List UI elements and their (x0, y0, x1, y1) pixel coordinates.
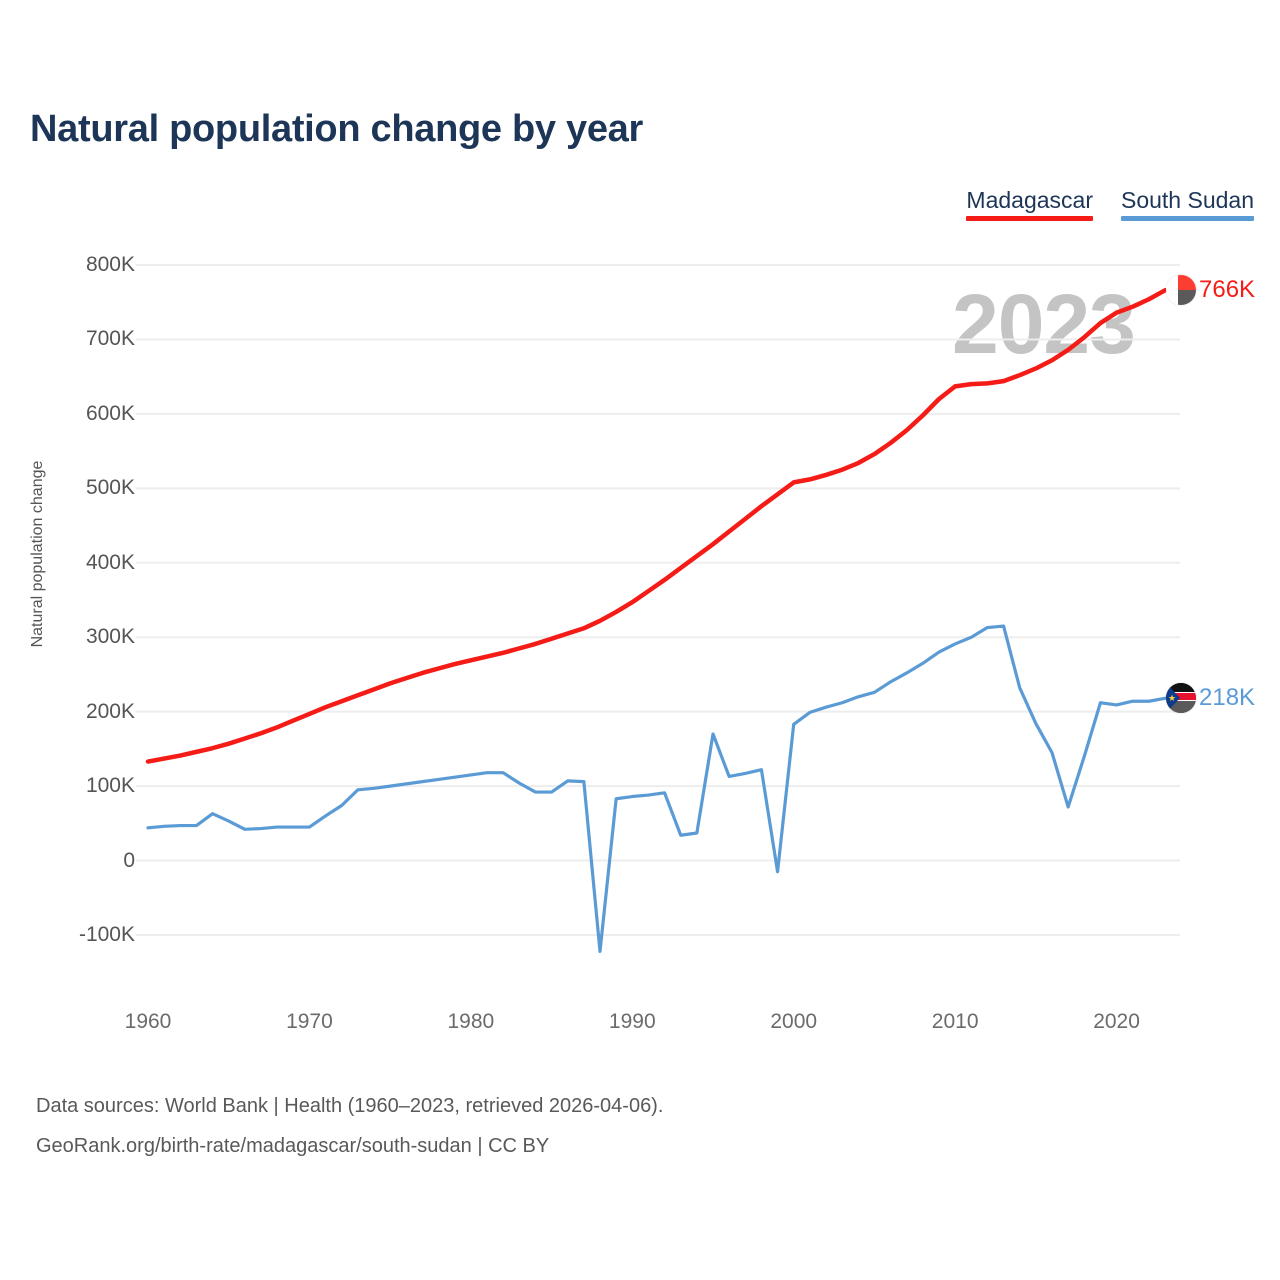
footer-line-2: GeoRank.org/birth-rate/madagascar/south-… (36, 1126, 663, 1166)
series-line-south-sudan (148, 626, 1165, 951)
madagascar-end-value: 766K (1199, 276, 1255, 304)
footer-line-1: Data sources: World Bank | Health (1960–… (36, 1086, 663, 1126)
south-sudan-end-value: 218K (1199, 684, 1255, 712)
footer-sources: Data sources: World Bank | Health (1960–… (36, 1086, 663, 1166)
series-line-madagascar (148, 290, 1165, 761)
madagascar-flag-icon (1166, 275, 1196, 305)
chart-page: Natural population change by year Madaga… (0, 0, 1280, 1280)
south-sudan-flag-icon: ★ (1166, 683, 1196, 713)
